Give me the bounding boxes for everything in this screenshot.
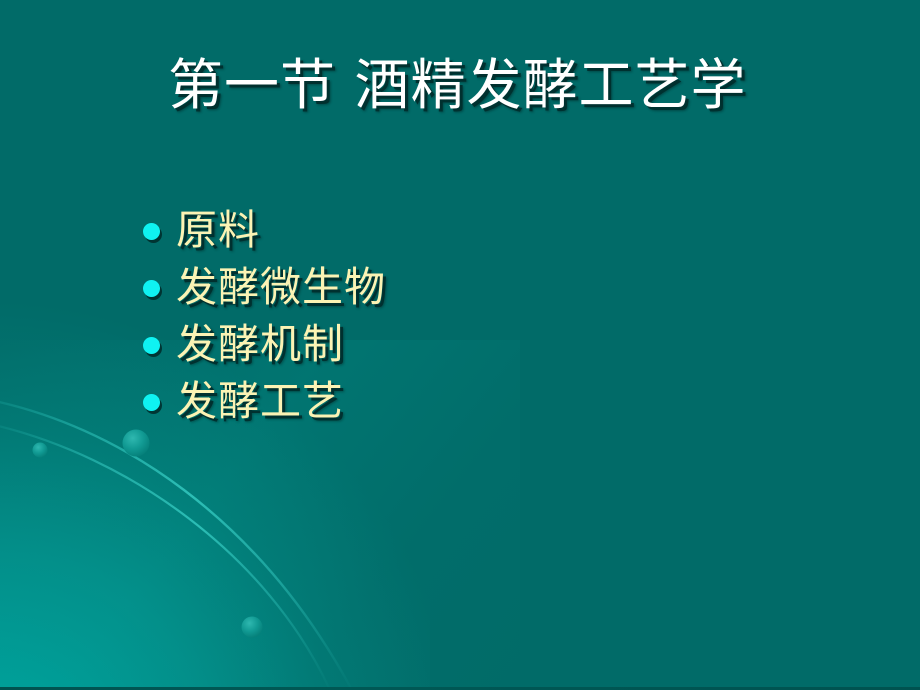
bullet-circle-icon [143, 280, 160, 297]
bullet-circle-icon [143, 337, 160, 354]
slide-content: 第一节 酒精发酵工艺学 原料 发酵微生物 发酵机制 发酵工艺 [0, 0, 920, 690]
list-item[interactable]: 原料 [143, 202, 386, 259]
list-item-label: 发酵工艺 [176, 381, 344, 422]
list-item-label: 发酵微生物 [176, 267, 386, 308]
bullet-circle-icon [143, 394, 160, 411]
list-item-label: 发酵机制 [176, 324, 344, 365]
list-item[interactable]: 发酵机制 [143, 316, 386, 373]
slide-title: 第一节 酒精发酵工艺学 [168, 56, 746, 115]
list-item[interactable]: 发酵工艺 [143, 373, 386, 430]
bullet-circle-icon [143, 223, 160, 240]
presentation-slide: 第一节 酒精发酵工艺学 原料 发酵微生物 发酵机制 发酵工艺 [0, 0, 920, 690]
list-item[interactable]: 发酵微生物 [143, 259, 386, 316]
bullet-list: 原料 发酵微生物 发酵机制 发酵工艺 [143, 202, 386, 430]
list-item-label: 原料 [176, 210, 260, 251]
